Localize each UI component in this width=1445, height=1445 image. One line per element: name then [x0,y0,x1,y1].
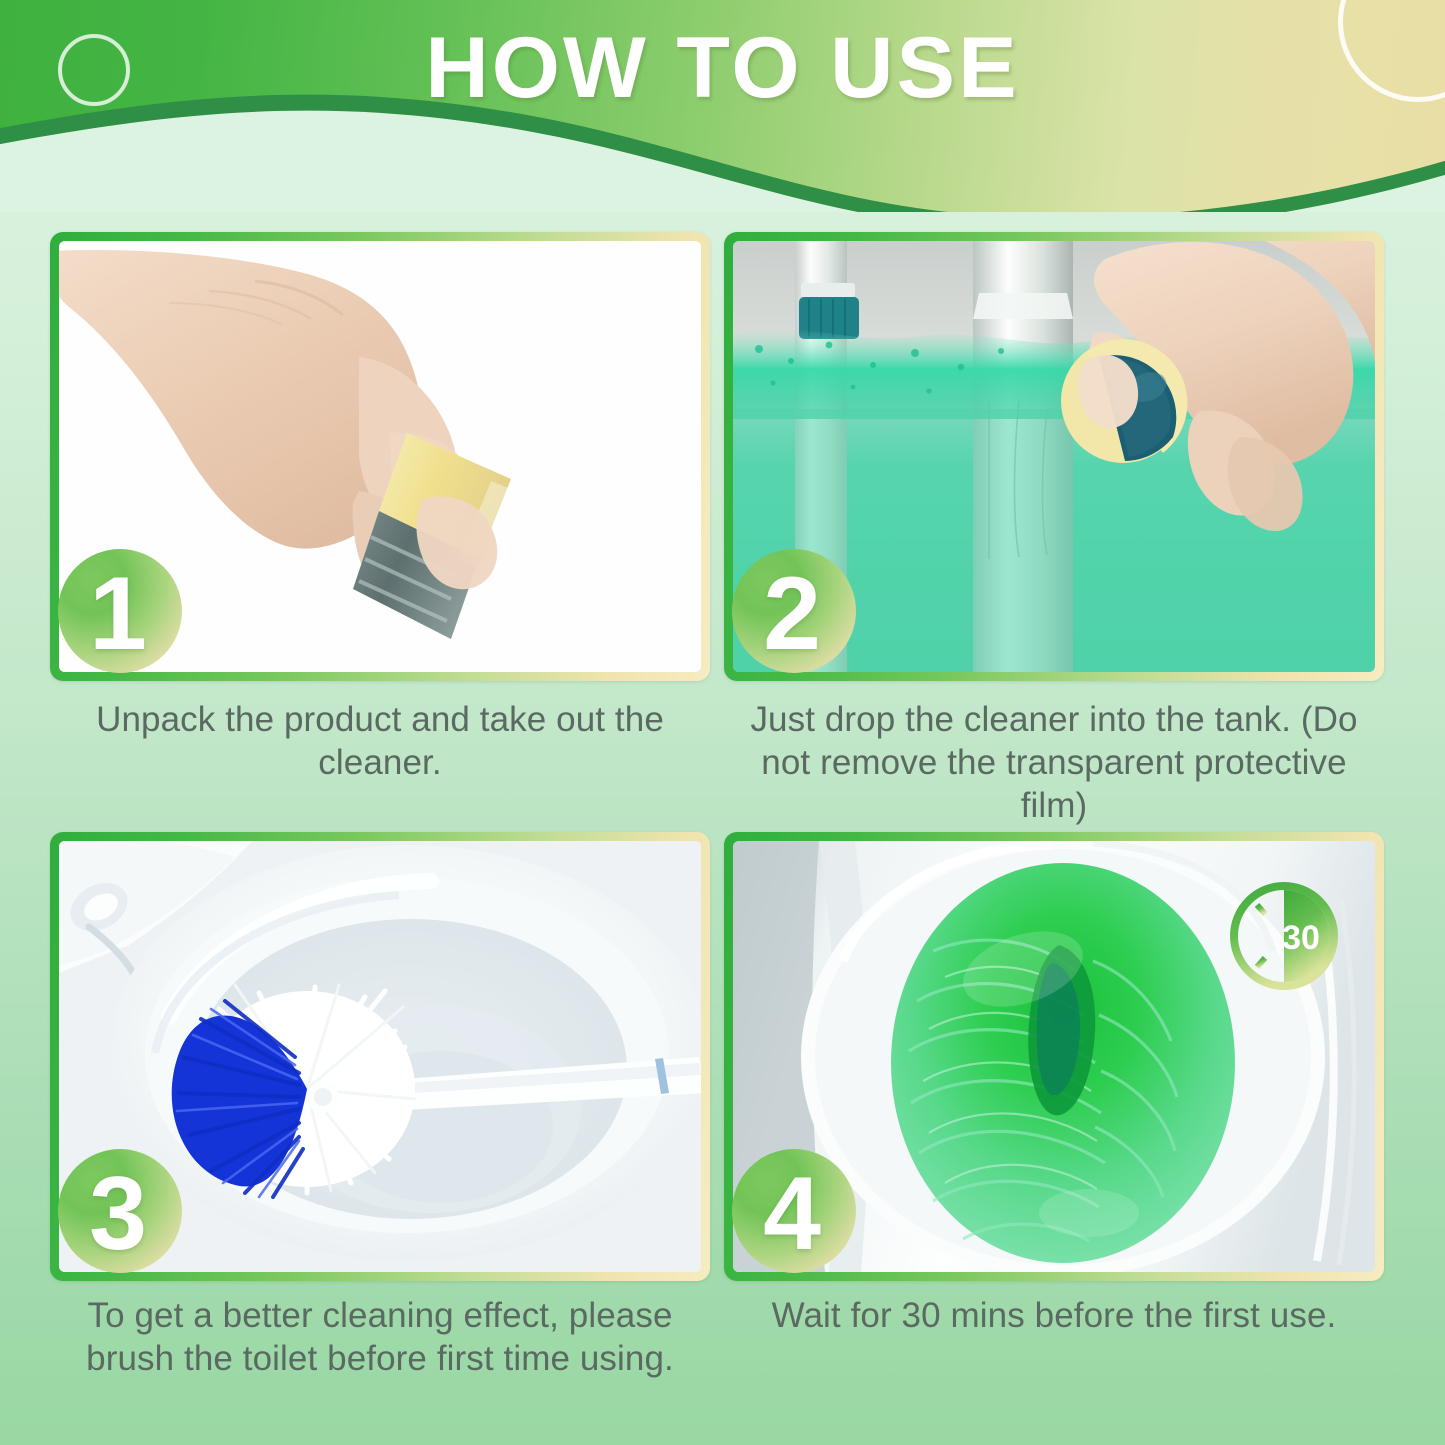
header-banner: HOW TO USE [0,0,1445,212]
timer-30-icon: 30 [1227,879,1341,993]
step-2-number: 2 [763,562,821,666]
step-3-caption: To get a better cleaning effect, please … [50,1294,710,1380]
timer-value: 30 [1282,919,1320,957]
step-2-number-badge: 2 [732,549,856,673]
steps-grid: 1 Unpack the product and take out the cl… [0,232,1445,1445]
step-1-caption: Unpack the product and take out the clea… [50,698,710,784]
step-4-photo-frame: 30 4 [724,832,1384,1281]
step-2-caption: Just drop the cleaner into the tank. (Do… [724,698,1384,827]
step-1-number: 1 [89,562,147,666]
step-card-2: 2 Just drop the cleaner into the tank. (… [724,232,1406,827]
step-card-1: 1 Unpack the product and take out the cl… [50,232,732,784]
step-1-number-badge: 1 [58,549,182,673]
step-1-photo-frame: 1 [50,232,710,681]
step-3-number-badge: 3 [58,1149,182,1273]
step-3-number: 3 [89,1162,147,1266]
step-card-4: 30 4 Wait for 30 mins before the first u… [724,832,1406,1337]
step-3-photo-frame: 3 [50,832,710,1281]
step-4-number: 4 [763,1162,821,1266]
step-4-number-badge: 4 [732,1149,856,1273]
step-2-photo-frame: 2 [724,232,1384,681]
step-4-caption: Wait for 30 mins before the first use. [724,1294,1384,1337]
step-card-3: 3 To get a better cleaning effect, pleas… [50,832,732,1380]
page-title: HOW TO USE [0,22,1445,114]
